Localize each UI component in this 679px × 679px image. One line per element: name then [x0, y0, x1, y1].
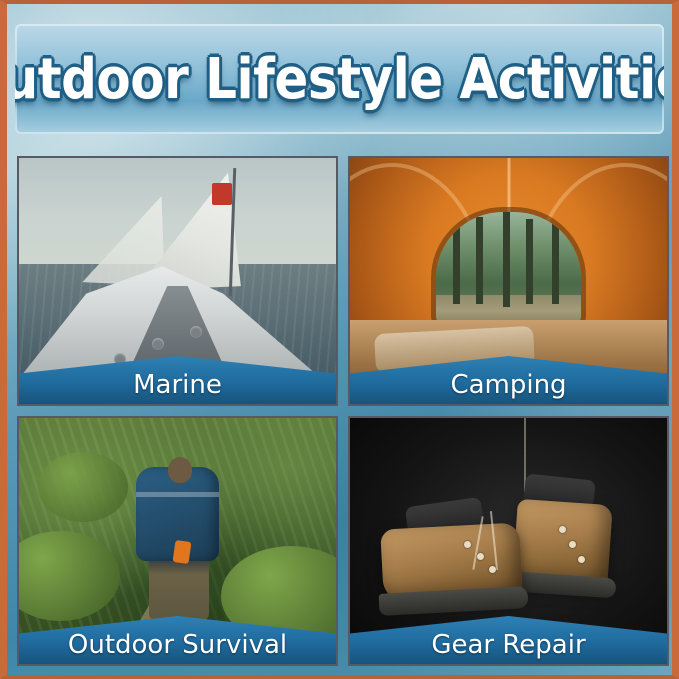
red-flag — [212, 183, 232, 205]
caption-label: Camping — [450, 370, 566, 400]
deck-fitting — [190, 326, 202, 338]
tree — [453, 212, 460, 304]
tree — [503, 212, 510, 306]
backpack-strap — [136, 492, 218, 497]
activity-card-outdoor-survival[interactable]: Outdoor Survival — [17, 416, 338, 666]
activity-grid: Marine Cam — [17, 156, 669, 666]
title-banner: Outdoor Lifestyle Activities — [15, 24, 664, 134]
deck-fitting — [152, 338, 164, 350]
caption-label: Outdoor Survival — [68, 630, 287, 660]
page-title: Outdoor Lifestyle Activities — [15, 47, 664, 112]
activity-card-gear-repair[interactable]: Gear Repair — [348, 416, 669, 666]
tree — [476, 217, 483, 304]
tree — [526, 219, 533, 304]
hiker-head — [168, 457, 192, 483]
shrub — [38, 452, 128, 522]
tree — [552, 214, 559, 304]
activity-card-camping[interactable]: Camping — [348, 156, 669, 406]
eyelet — [578, 556, 585, 563]
poster-container: Outdoor Lifestyle Activities Marine — [0, 0, 679, 679]
tent-door-opening — [436, 212, 582, 330]
caption-label: Gear Repair — [431, 630, 585, 660]
eyelet — [569, 541, 576, 548]
activity-card-marine[interactable]: Marine — [17, 156, 338, 406]
caption-label: Marine — [133, 370, 222, 400]
